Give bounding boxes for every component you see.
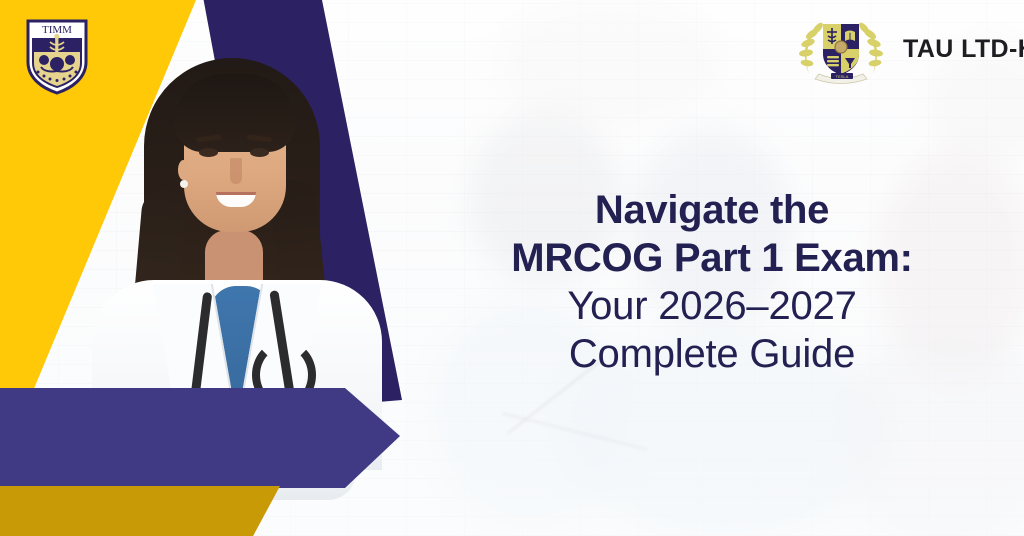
tau-wordmark: TAU LTD-HK xyxy=(903,35,1024,64)
headline-line-2: MRCOG Part 1 Exam: xyxy=(432,234,992,282)
tau-motto-text: TESLA xyxy=(836,74,849,79)
doctor-ear xyxy=(178,160,189,180)
headline: Navigate the MRCOG Part 1 Exam: Your 202… xyxy=(432,186,992,378)
navy-bottom-bar xyxy=(0,388,400,488)
promotional-banner: TIMM xyxy=(0,0,1024,536)
doctor-earring xyxy=(180,180,188,188)
doctor-eye xyxy=(250,148,269,157)
timm-logo-text: TIMM xyxy=(42,24,72,36)
timm-shield-icon[interactable]: TIMM xyxy=(24,18,90,96)
headline-line-1: Navigate the xyxy=(432,186,992,234)
doctor-hair-top xyxy=(174,74,296,152)
gold-bottom-bar xyxy=(0,486,290,536)
headline-line-3: Your 2026–2027 xyxy=(432,282,992,330)
doctor-eye xyxy=(199,148,218,157)
doctor-nose xyxy=(230,158,242,184)
headline-line-4: Complete Guide xyxy=(432,330,992,378)
tau-crest-icon: TESLA xyxy=(795,14,887,84)
tau-brand-block[interactable]: TESLA TAU LTD-HK xyxy=(795,14,1024,84)
